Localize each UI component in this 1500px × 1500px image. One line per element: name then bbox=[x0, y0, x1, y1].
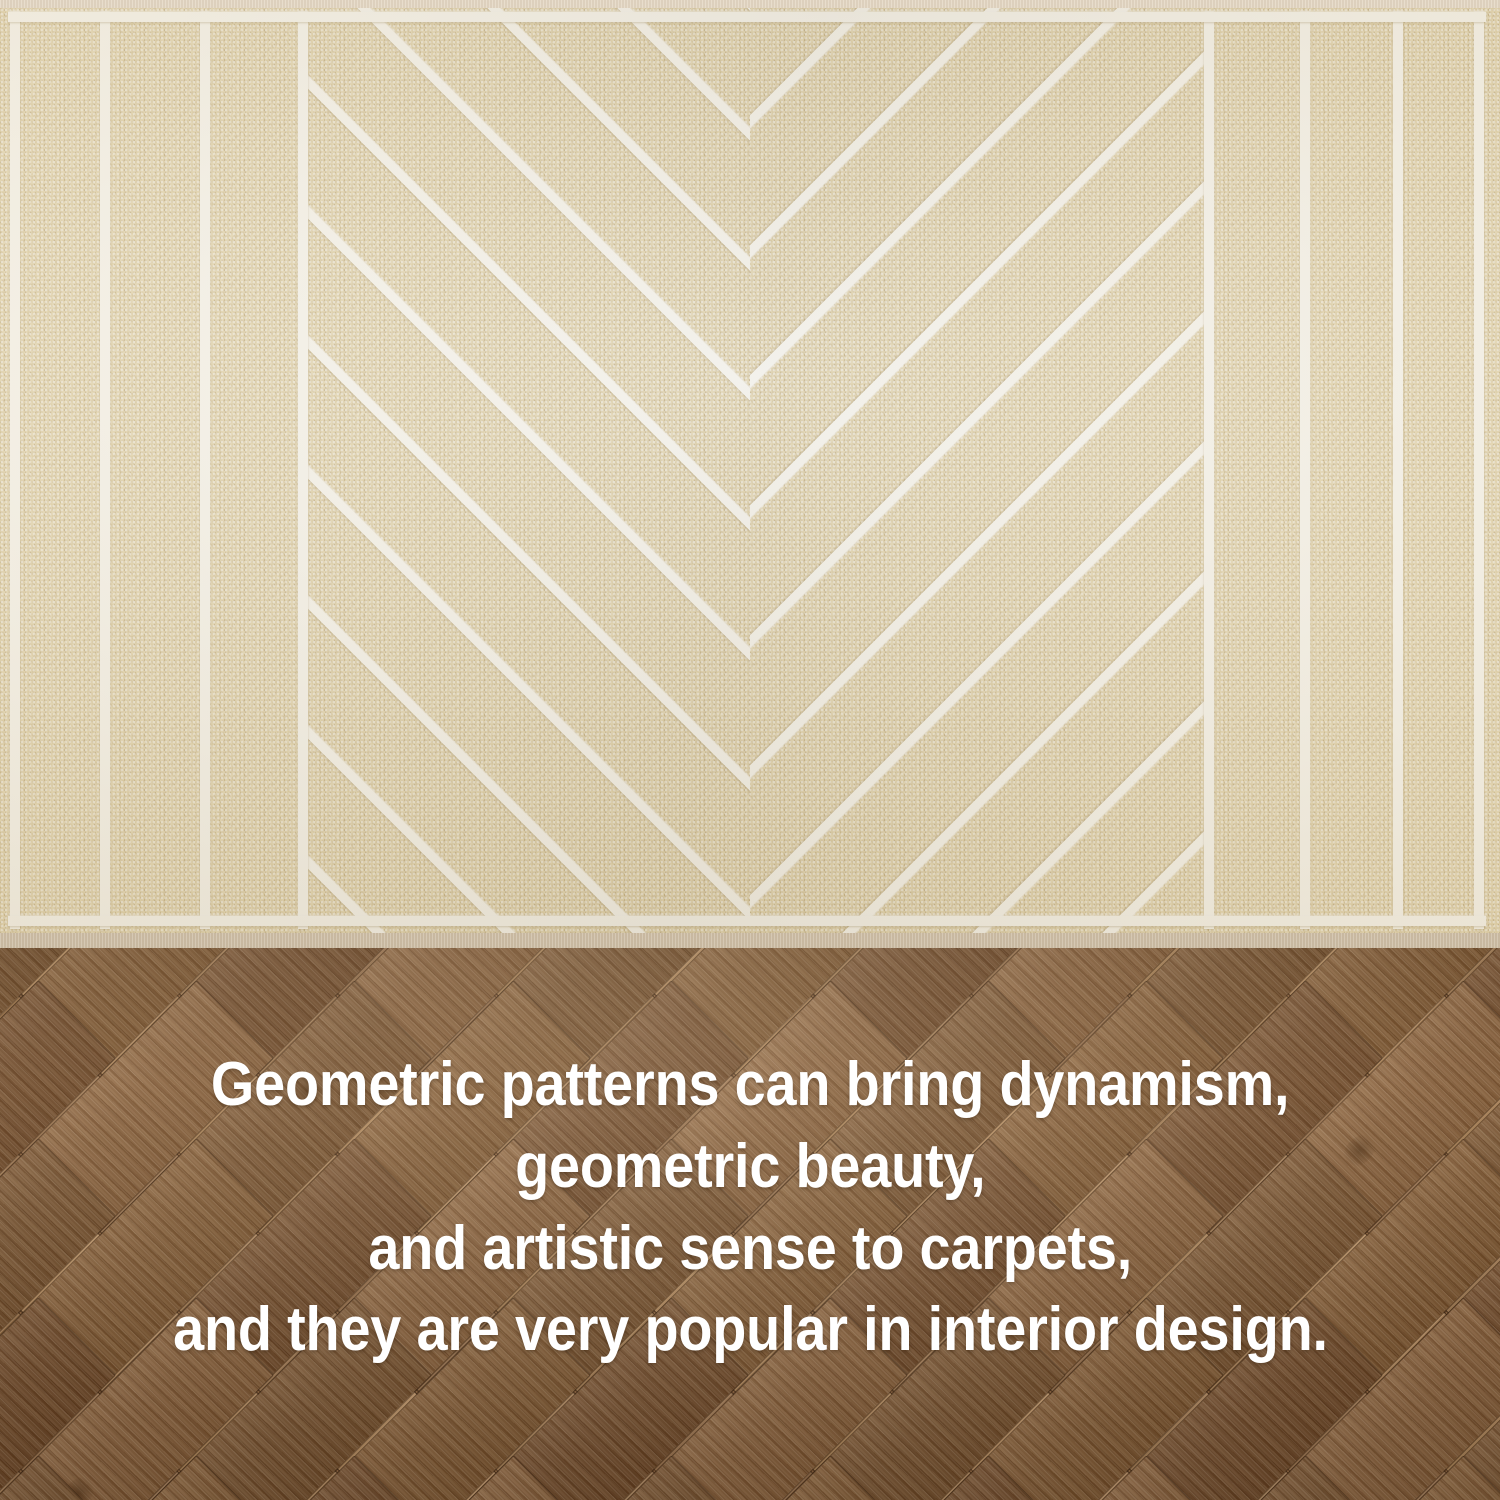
rug-top-frame-line bbox=[8, 12, 1486, 22]
rug-border-stripe bbox=[100, 12, 110, 929]
rug-border-stripe bbox=[298, 12, 308, 929]
parquet-planks bbox=[0, 948, 1500, 1500]
rug-border-stripe bbox=[1204, 12, 1214, 929]
rug-border-stripe bbox=[1474, 12, 1484, 929]
rug-border-stripe bbox=[200, 12, 210, 929]
wood-floor-panel bbox=[0, 948, 1500, 1500]
rug-border-stripe bbox=[10, 12, 20, 929]
product-image-canvas: Geometric patterns can bring dynamism, g… bbox=[0, 0, 1500, 1500]
rug-border-stripe bbox=[1393, 12, 1403, 929]
rug-border-stripes bbox=[0, 8, 1500, 933]
rug-pile-field bbox=[0, 8, 1500, 933]
rug-border-stripe bbox=[1300, 12, 1310, 929]
rug-photo-panel bbox=[0, 0, 1500, 948]
rug-bottom-frame-line bbox=[8, 916, 1486, 926]
